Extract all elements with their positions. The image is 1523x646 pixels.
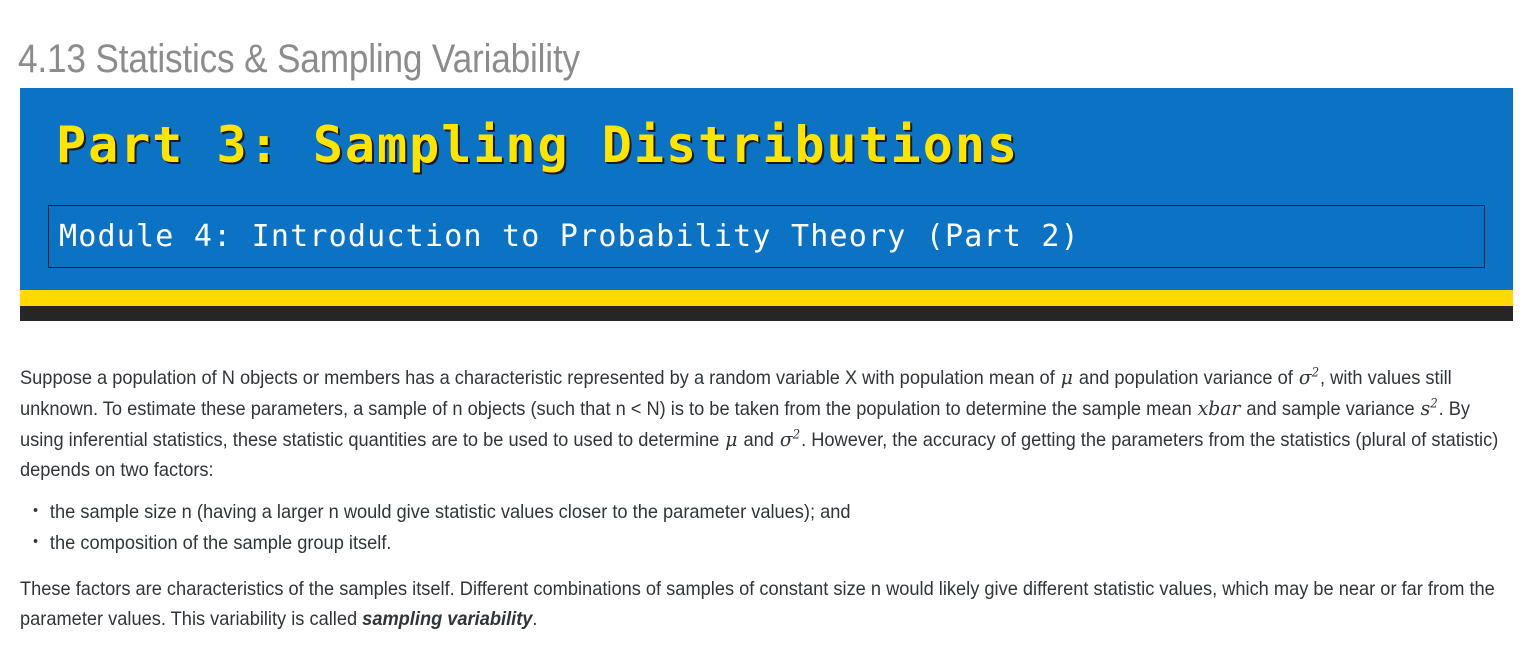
lesson-content: Suppose a population of N objects or mem…: [20, 362, 1514, 646]
lesson-banner: Part 3: Sampling Distributions Module 4:…: [20, 88, 1513, 321]
lesson-page: 4.13 Statistics & Sampling Variability P…: [0, 0, 1523, 631]
banner-subtitle-box: Module 4: Introduction to Probability Th…: [48, 205, 1485, 268]
math-xbar: xbar: [1197, 396, 1241, 420]
math-exponent: 2: [1312, 364, 1319, 379]
math-mu: μ: [724, 427, 738, 451]
text-segment: .: [532, 608, 537, 630]
emphasis-sampling-variability: sampling variability: [362, 608, 532, 630]
math-s-squared: s2: [1420, 396, 1439, 420]
factors-list: the sample size n (having a larger n wou…: [20, 497, 1523, 558]
text-segment: and sample variance: [1241, 398, 1419, 420]
banner-body: Part 3: Sampling Distributions Module 4:…: [20, 88, 1513, 290]
math-sigma-squared: σ2: [779, 427, 801, 451]
banner-heading: Part 3: Sampling Distributions: [20, 118, 1513, 173]
math-base: σ: [1299, 365, 1312, 389]
math-base: σ: [780, 427, 793, 451]
math-sigma-squared: σ2: [1298, 365, 1320, 389]
math-exponent: 2: [1430, 395, 1437, 410]
text-segment: and population variance of: [1074, 367, 1298, 389]
list-item: the composition of the sample group itse…: [48, 528, 1523, 558]
paragraph-conclusion: These factors are characteristics of the…: [20, 574, 1513, 634]
math-base: s: [1421, 396, 1431, 420]
accent-bar-dark: [20, 306, 1513, 321]
text-segment: Suppose a population of N objects or mem…: [20, 367, 1060, 389]
list-item: the sample size n (having a larger n wou…: [48, 497, 1523, 527]
accent-bar-yellow: [20, 290, 1513, 306]
page-title: 4.13 Statistics & Sampling Variability: [18, 35, 580, 84]
banner-subtitle: Module 4: Introduction to Probability Th…: [59, 219, 1474, 254]
text-segment: and: [738, 429, 779, 451]
text-segment: These factors are characteristics of the…: [20, 578, 1495, 630]
paragraph-intro: Suppose a population of N objects or mem…: [20, 362, 1513, 485]
math-exponent: 2: [793, 426, 800, 441]
math-mu: μ: [1060, 365, 1074, 389]
